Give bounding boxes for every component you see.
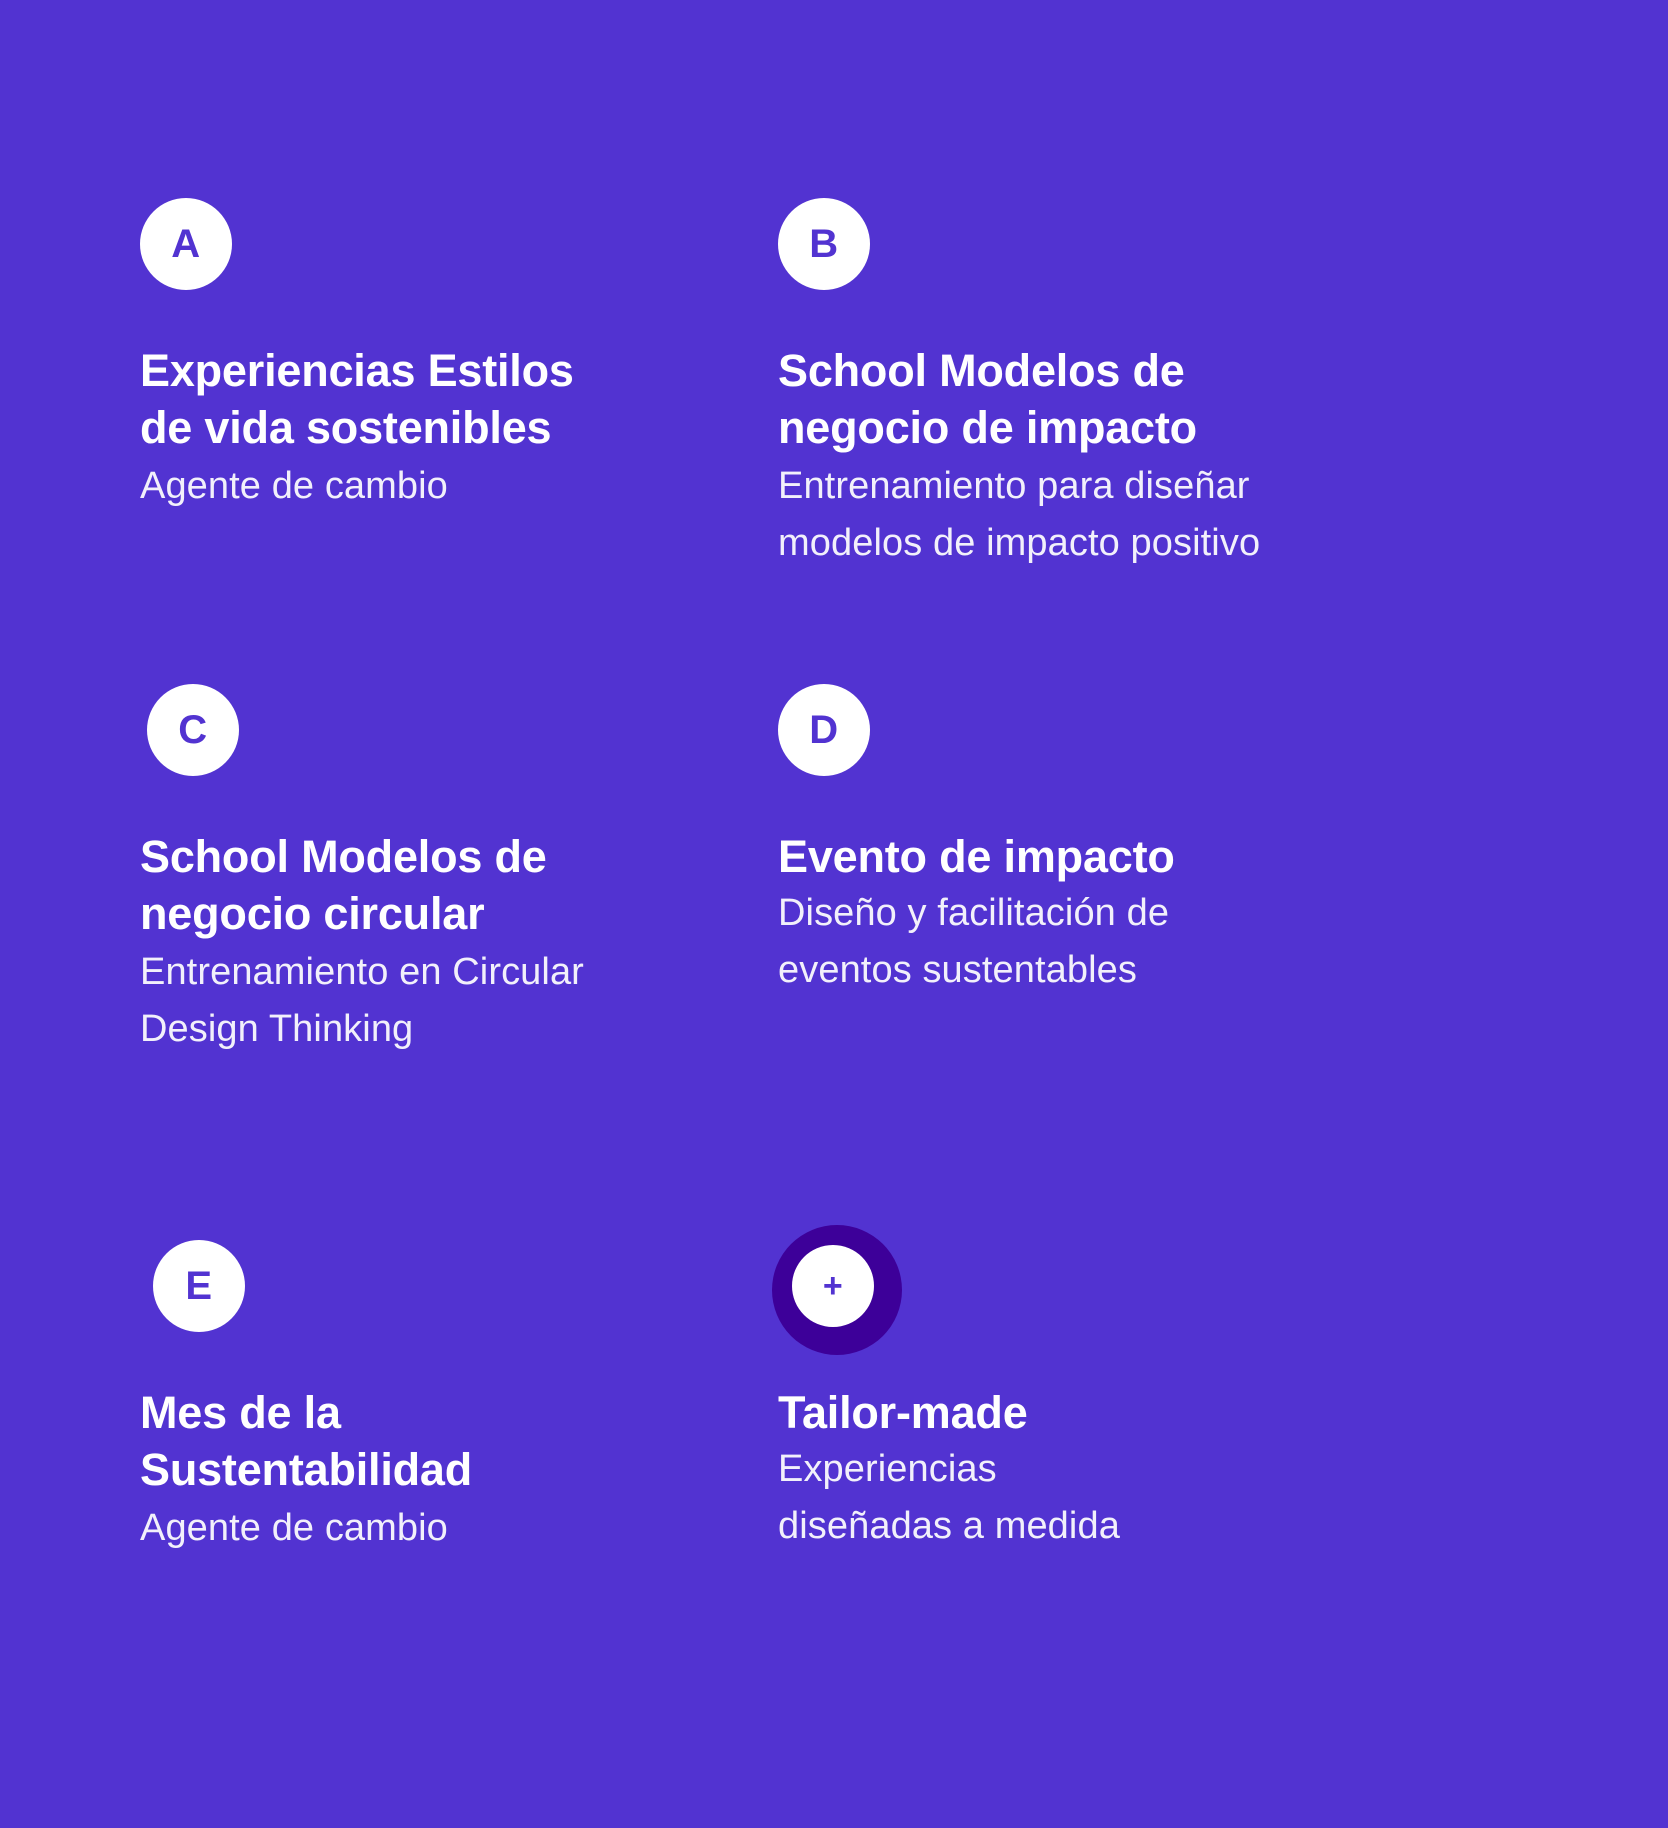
service-card-tailor-made[interactable]: + Tailor-made Experiencias diseñadas a m… [778, 1240, 1478, 1555]
service-card-a[interactable]: A Experiencias Estilos de vida sostenibl… [140, 198, 840, 515]
service-card-e[interactable]: E Mes de la Sustentabilidad Agente de ca… [140, 1240, 840, 1557]
card-title-b: School Modelos de negocio de impacto [778, 342, 1418, 456]
page-background: A Experiencias Estilos de vida sostenibl… [0, 0, 1668, 1828]
badge-wrap-d: D [778, 684, 870, 776]
service-card-d[interactable]: D Evento de impacto Diseño y facilitació… [778, 684, 1478, 999]
plus-badge-icon[interactable]: + [792, 1245, 874, 1327]
card-title-tailor-made: Tailor-made [778, 1384, 1418, 1441]
letter-d-badge-icon[interactable]: D [778, 684, 870, 776]
card-subtitle-e: Agente de cambio [140, 1500, 780, 1557]
service-card-grid: A Experiencias Estilos de vida sostenibl… [0, 0, 1668, 1828]
letter-e-badge-icon[interactable]: E [153, 1240, 245, 1332]
card-subtitle-d: Diseño y facilitación de eventos sustent… [778, 885, 1418, 999]
card-title-a: Experiencias Estilos de vida sostenibles [140, 342, 780, 456]
letter-b-badge-icon[interactable]: B [778, 198, 870, 290]
card-subtitle-c: Entrenamiento en Circular Design Thinkin… [140, 944, 780, 1058]
card-subtitle-tailor-made: Experiencias diseñadas a medida [778, 1441, 1418, 1555]
card-title-c: School Modelos de negocio circular [140, 828, 780, 942]
badge-wrap-plus: + [778, 1240, 870, 1332]
service-card-c[interactable]: C School Modelos de negocio circular Ent… [140, 684, 840, 1058]
card-title-d: Evento de impacto [778, 828, 1418, 885]
badge-wrap-e: E [153, 1240, 245, 1332]
badge-wrap-b: B [778, 198, 870, 290]
card-subtitle-a: Agente de cambio [140, 458, 780, 515]
service-card-b[interactable]: B School Modelos de negocio de impacto E… [778, 198, 1478, 572]
card-title-e: Mes de la Sustentabilidad [140, 1384, 780, 1498]
badge-wrap-a: A [140, 198, 232, 290]
letter-c-badge-icon[interactable]: C [147, 684, 239, 776]
badge-wrap-c: C [147, 684, 239, 776]
card-subtitle-b: Entrenamiento para diseñar modelos de im… [778, 458, 1418, 572]
letter-a-badge-icon[interactable]: A [140, 198, 232, 290]
